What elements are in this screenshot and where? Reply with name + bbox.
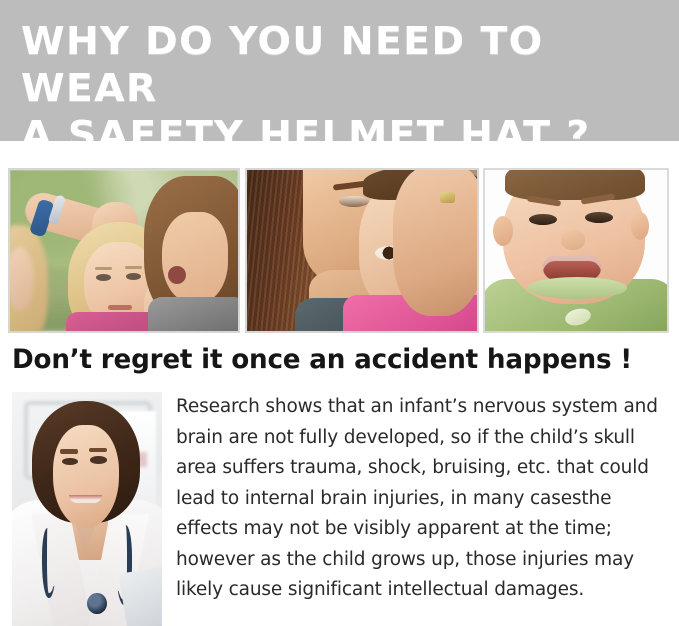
doctor-eyebrow-right (89, 448, 107, 452)
toddler-eye-right (585, 212, 613, 223)
doctor-face (53, 425, 119, 528)
clipboard (119, 567, 162, 626)
toddler-nose (561, 230, 585, 250)
sibling-top (148, 297, 238, 331)
girl-eye-left (96, 274, 111, 281)
doctor-eye-right (90, 456, 107, 463)
adult-hand-on-head (393, 170, 477, 316)
sibling-mouth (168, 266, 186, 284)
photo-mother-kissing-child-with-bandage (245, 168, 479, 333)
mother-eye (339, 196, 369, 207)
girl-eyebrow-left (95, 267, 112, 270)
doctor-eyebrow-left (60, 449, 78, 453)
photo-adult-pointing-at-girls-head (8, 168, 240, 333)
girl-eyebrow-right (125, 266, 142, 269)
stethoscope-chestpiece-icon (87, 593, 107, 614)
section-headline: Don’t regret it once an accident happens… (12, 344, 652, 376)
body-paragraph: Research shows that an infant’s nervous … (176, 392, 672, 606)
photo-strip (0, 168, 679, 333)
girl-eye-right (126, 273, 141, 280)
photo-crying-toddler (483, 168, 669, 333)
sibling-face (162, 212, 228, 304)
page-title: WHY DO YOU NEED TO WEAR A SAFETY HELMET … (21, 18, 679, 159)
photo-female-doctor (12, 392, 162, 626)
toddler-eye-left (529, 214, 557, 225)
doctor-eye-left (62, 458, 79, 465)
stethoscope-tube-left (42, 528, 56, 598)
toddler-ear-left (493, 216, 513, 246)
header-banner: WHY DO YOU NEED TO WEAR A SAFETY HELMET … (0, 0, 679, 141)
toddler-collar (527, 277, 627, 299)
finger-ring (440, 192, 455, 203)
toddler-hair (505, 170, 645, 200)
doctor-smile (69, 495, 102, 503)
girl-mouth (108, 305, 132, 310)
toddler-ear-right (631, 212, 649, 240)
